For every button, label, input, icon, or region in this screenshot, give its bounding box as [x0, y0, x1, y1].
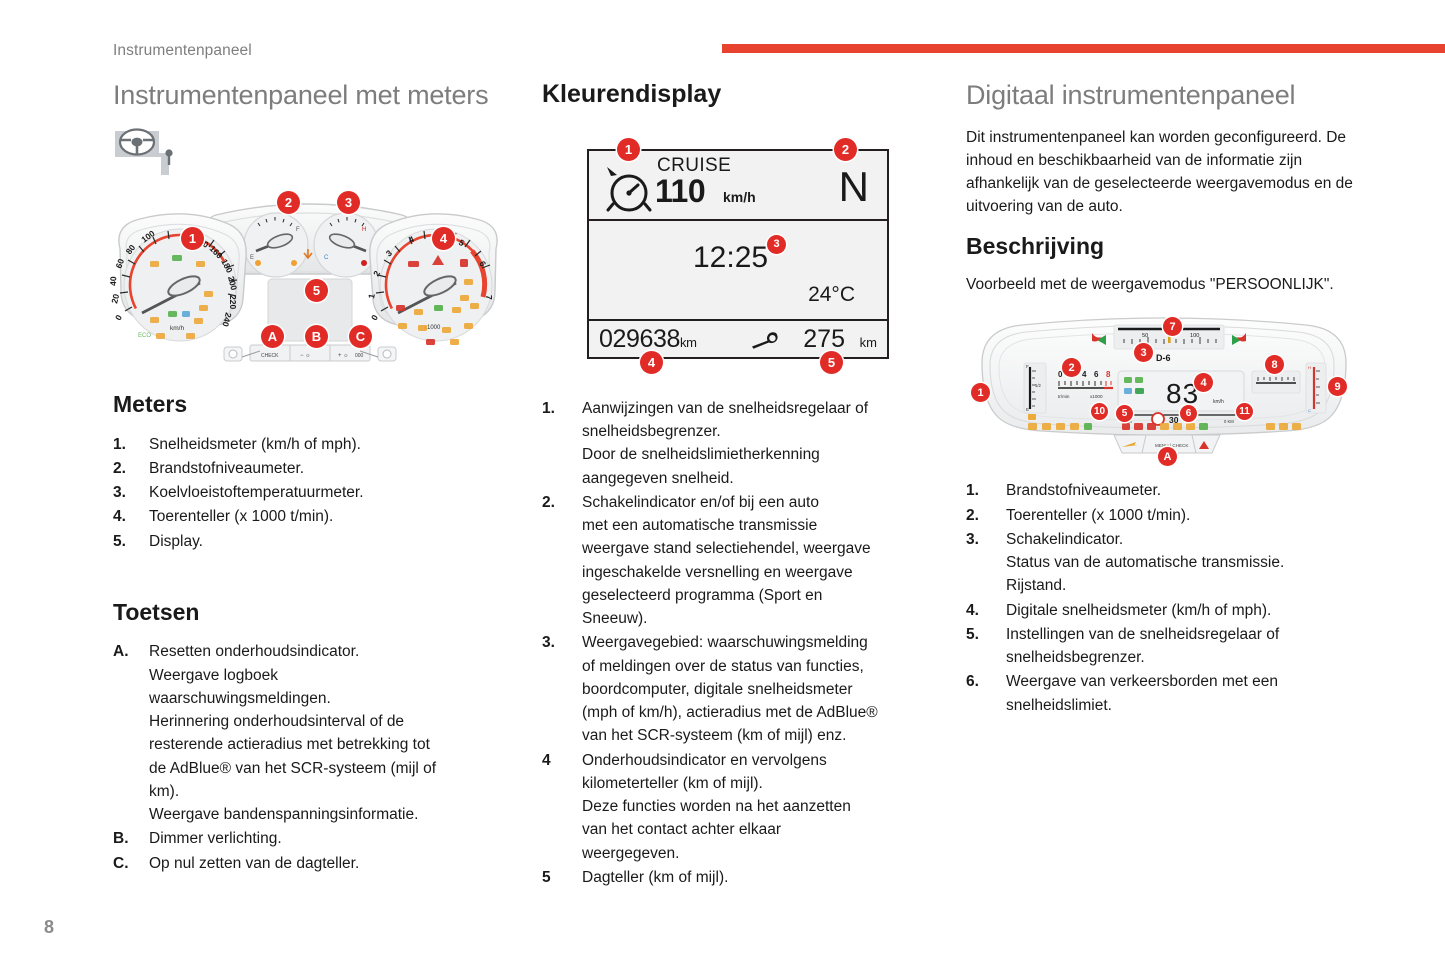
list-line: weergave stand selectiehendel, weergave [582, 537, 871, 560]
list-marker: A. [113, 640, 149, 663]
list-line: Weergave logboek [149, 664, 436, 687]
list-line: Weergavegebied: waarschuwingsmelding [582, 631, 878, 654]
callout-a: A [261, 325, 284, 348]
list-line: Sneeuw). [582, 607, 871, 630]
list-line: waarschuwingsmeldingen. [149, 687, 436, 710]
odometer-value: 029638km [599, 325, 697, 354]
svg-text:km/h: km/h [1213, 399, 1224, 405]
list-line: snelheidslimiet. [1006, 694, 1278, 717]
list-text: Brandstofniveaumeter. [149, 457, 304, 480]
digital-cluster-drawing: 50 100 F 1/2 E 024 [966, 311, 1362, 463]
callout-4: 4 [640, 351, 663, 374]
svg-text:F: F [1026, 364, 1029, 369]
list-text: Display. [149, 530, 203, 553]
list-text: Aanwijzingen van de snelheidsregelaar of… [582, 397, 868, 490]
list-item: 4 Onderhoudsindicator en vervolgens kilo… [542, 749, 932, 865]
list-text: Schakelindicator en/of bij een auto met … [582, 491, 871, 631]
callout-c: C [349, 325, 372, 348]
list-text: Resetten onderhoudsindicator. Weergave l… [149, 640, 436, 826]
digital-instrument-cluster-figure: 50 100 F 1/2 E 024 [966, 311, 1361, 469]
buttons-list: A. Resetten onderhoudsindicator. Weergav… [113, 640, 513, 875]
list-line: kilometerteller (km of mijl). [582, 772, 851, 795]
list-item: 4. Digitale snelheidsmeter (km/h of mph)… [966, 599, 1361, 622]
list-text: Toerenteller (x 1000 t/min). [1006, 504, 1190, 527]
list-marker: 5. [966, 623, 1006, 646]
svg-text:+ ☼: + ☼ [338, 353, 349, 359]
list-line: van het SCR-systeem (km of mijl) enz. [582, 724, 878, 747]
list-line: Door de snelheidslimietherkenning [582, 443, 868, 466]
svg-text:000: 000 [355, 353, 364, 359]
display-bottom-row: 029638km 275 km [589, 321, 887, 357]
svg-text:E: E [250, 255, 254, 261]
list-marker: C. [113, 852, 149, 875]
list-marker: 5 [542, 866, 582, 889]
svg-text:7: 7 [484, 295, 494, 300]
list-text: Weergavegebied: waarschuwingsmelding of … [582, 631, 878, 747]
list-line: resterende actieradius met betrekking to… [149, 733, 436, 756]
steering-wheel-icon [113, 127, 193, 183]
svg-text:E: E [1026, 407, 1029, 412]
list-line: Schakelindicator. [1006, 528, 1284, 551]
left-column: Instrumentenpaneel met meters [113, 80, 513, 876]
running-head: Instrumentenpaneel [113, 42, 252, 60]
svg-text:− ☼: − ☼ [300, 353, 311, 359]
odometer-unit: km [680, 335, 697, 350]
list-text: Koelvloeistoftemperatuurmeter. [149, 481, 364, 504]
list-text: Digitale snelheidsmeter (km/h of mph). [1006, 599, 1271, 622]
callout-3: 3 [767, 235, 786, 254]
callout-1: 1 [617, 138, 640, 161]
list-line: Onderhoudsindicator en vervolgens [582, 749, 851, 772]
clock-value: 12:25 [693, 241, 768, 275]
svg-text:40: 40 [108, 276, 118, 286]
callout-2: 2 [834, 138, 857, 161]
description-paragraph: Voorbeeld met de weergavemodus "PERSOONL… [966, 274, 1361, 297]
list-line: de AdBlue® van het SCR-systeem (mijl of [149, 757, 436, 780]
list-line: boordcomputer, digitale snelheidsmeter [582, 678, 878, 701]
list-item: 2. Schakelindicator en/of bij een auto m… [542, 491, 932, 631]
svg-text:tr/min: tr/min [1058, 394, 1070, 399]
buttons-heading: Toetsen [113, 599, 513, 627]
svg-text:6: 6 [1094, 370, 1099, 379]
list-item: 5. Instellingen van de snelheidsregelaar… [966, 623, 1361, 670]
list-marker: 4. [966, 599, 1006, 622]
list-text: Dimmer verlichting. [149, 827, 282, 850]
list-line: snelheidsbegrenzer. [582, 420, 868, 443]
service-range-unit: km [860, 335, 877, 350]
list-marker: 3. [113, 481, 149, 504]
list-item: 1. Snelheidsmeter (km/h of mph). [113, 433, 513, 456]
callout-1: 1 [181, 227, 204, 250]
display-top-row: CRUISE 110 km/h N [589, 151, 887, 221]
page-title: Instrumentenpaneel met meters [113, 80, 513, 111]
paragraph-line: Dit instrumentenpaneel kan worden [966, 129, 1210, 146]
meters-heading: Meters [113, 391, 513, 419]
list-marker: 6. [966, 670, 1006, 693]
svg-text:D-6: D-6 [1156, 353, 1171, 363]
callout-5: 5 [820, 351, 843, 374]
list-marker: 1. [542, 397, 582, 420]
right-column: Digitaal instrumentenpaneel Dit instrume… [966, 80, 1361, 718]
list-item: 6. Weergave van verkeersborden met een s… [966, 670, 1361, 717]
list-text: Weergave van verkeersborden met een snel… [1006, 670, 1278, 717]
service-range-value: 275 [803, 325, 845, 354]
list-marker: B. [113, 827, 149, 850]
document-page: Instrumentenpaneel Instrumentenpaneel me… [0, 0, 1445, 964]
list-line: Weergave van verkeersborden met een [1006, 670, 1278, 693]
list-item: B. Dimmer verlichting. [113, 827, 513, 850]
svg-text:C: C [324, 255, 329, 261]
list-item: C. Op nul zetten van de dagteller. [113, 852, 513, 875]
list-line: Status van de automatische transmissie. [1006, 551, 1284, 574]
page-number: 8 [44, 917, 54, 938]
section-title-digitaal: Digitaal instrumentenpaneel [966, 80, 1361, 111]
list-text: Onderhoudsindicator en vervolgens kilome… [582, 749, 851, 865]
colour-display-screen: CRUISE 110 km/h N 12:25 24°C 029638km 27… [587, 149, 889, 359]
list-text: Toerenteller (x 1000 t/min). [149, 505, 333, 528]
list-line: Aanwijzingen van de snelheidsregelaar of [582, 397, 868, 420]
list-item: 2. Toerenteller (x 1000 t/min). [966, 504, 1361, 527]
callout-5: 5 [305, 279, 328, 302]
list-line: Herinnering onderhoudsinterval of de [149, 710, 436, 733]
wrench-icon [749, 331, 779, 349]
paragraph-line: geconfigureerd. [1214, 129, 1322, 146]
callout-a: A [1158, 447, 1177, 466]
callout-2: 2 [277, 191, 300, 214]
list-line: Weergave bandenspanningsinformatie. [149, 803, 436, 826]
gear-indicator: N [839, 163, 869, 211]
svg-text:1/2: 1/2 [1035, 383, 1041, 388]
list-text: Instellingen van de snelheidsregelaar of… [1006, 623, 1279, 670]
list-item: 5. Display. [113, 530, 513, 553]
list-line: Deze functies worden na het aanzetten [582, 795, 851, 818]
svg-text:8: 8 [1106, 370, 1111, 379]
list-marker: 1. [966, 479, 1006, 502]
callout-b: B [305, 325, 328, 348]
list-line: met een automatische transmissie [582, 514, 871, 537]
list-line: aangegeven snelheid. [582, 467, 868, 490]
svg-text:ECO: ECO [138, 333, 151, 339]
svg-text:C: C [1308, 408, 1311, 413]
meters-list: 1. Snelheidsmeter (km/h of mph). 2. Bran… [113, 433, 513, 553]
svg-text:H: H [362, 227, 366, 233]
svg-text:CHECK: CHECK [261, 353, 279, 359]
svg-text:4: 4 [1082, 370, 1087, 379]
list-line: km). [149, 780, 436, 803]
analog-instrument-cluster-figure: E F H C [113, 127, 513, 369]
svg-text:0: 0 [113, 313, 124, 322]
svg-text:0 KM: 0 KM [1224, 419, 1234, 424]
svg-text:100: 100 [1190, 333, 1199, 339]
temperature-value: 24°C [808, 283, 855, 307]
list-text: Brandstofniveaumeter. [1006, 479, 1161, 502]
cruise-control-icon [599, 163, 657, 215]
list-text: Schakelindicator. Status van de automati… [1006, 528, 1284, 598]
svg-text:H: H [1308, 365, 1311, 370]
middle-column: Kleurendisplay CRUISE 110 km/h N [542, 80, 932, 890]
callout-3: 3 [337, 191, 360, 214]
list-text: Snelheidsmeter (km/h of mph). [149, 433, 361, 456]
list-marker: 3. [542, 631, 582, 654]
list-text: Dagteller (km of mijl). [582, 866, 728, 889]
header-rule [722, 44, 1445, 53]
list-line: van het contact achter elkaar [582, 818, 851, 841]
display-middle-row: 12:25 24°C [589, 221, 887, 321]
colour-display-list: 1. Aanwijzingen van de snelheidsregelaar… [542, 397, 932, 889]
callout-4: 4 [432, 227, 455, 250]
list-marker: 1. [113, 433, 149, 456]
list-item: 2. Brandstofniveaumeter. [113, 457, 513, 480]
list-line: Resetten onderhoudsindicator. [149, 640, 436, 663]
list-item: 5 Dagteller (km of mijl). [542, 866, 932, 889]
list-marker: 2. [113, 457, 149, 480]
list-marker: 2. [966, 504, 1006, 527]
list-line: Instellingen van de snelheidsregelaar of [1006, 623, 1279, 646]
paragraph-line: "PERSOONLIJK". [1210, 276, 1334, 293]
list-line: snelheidsbegrenzer. [1006, 646, 1279, 669]
list-line: weergegeven. [582, 842, 851, 865]
list-item: 1. Aanwijzingen van de snelheidsregelaar… [542, 397, 932, 490]
cruise-speed-value: 110 [655, 173, 705, 210]
list-line: geselecteerd programma (Sport en [582, 584, 871, 607]
beschrijving-heading: Beschrijving [966, 233, 1361, 261]
list-item: A. Resetten onderhoudsindicator. Weergav… [113, 640, 513, 826]
list-line: ingeschakelde versnelling en weergave [582, 561, 871, 584]
list-line: of meldingen over de status van functies… [582, 655, 878, 678]
intro-paragraph: Dit instrumentenpaneel kan worden geconf… [966, 127, 1361, 219]
list-text: Op nul zetten van de dagteller. [149, 852, 359, 875]
svg-text:20: 20 [109, 293, 121, 305]
list-line: Schakelindicator en/of bij een auto [582, 491, 871, 514]
list-item: 3. Weergavegebied: waarschuwingsmelding … [542, 631, 932, 747]
list-marker: 4 [542, 749, 582, 772]
list-item: 3. Schakelindicator. Status van de autom… [966, 528, 1361, 598]
list-marker: 5. [113, 530, 149, 553]
section-title-kleurendisplay: Kleurendisplay [542, 80, 932, 109]
odometer-number: 029638 [599, 325, 680, 353]
list-line: (mph of km/h), actieradius met de AdBlue… [582, 701, 878, 724]
svg-text:F: F [296, 227, 300, 233]
list-item: 3. Koelvloeistoftemperatuurmeter. [113, 481, 513, 504]
svg-text:50: 50 [1142, 333, 1148, 339]
list-marker: 4. [113, 505, 149, 528]
paragraph-line: Voorbeeld met de weergavemodus [966, 276, 1206, 293]
svg-text:km/h: km/h [170, 325, 184, 332]
list-line: Rijstand. [1006, 574, 1284, 597]
colour-display-figure: CRUISE 110 km/h N 12:25 24°C 029638km 27… [542, 129, 932, 397]
list-item: 4. Toerenteller (x 1000 t/min). [113, 505, 513, 528]
list-item: 1. Brandstofniveaumeter. [966, 479, 1361, 502]
svg-text:220: 220 [228, 295, 238, 309]
digital-cluster-list: 1. Brandstofniveaumeter. 2. Toerenteller… [966, 479, 1361, 717]
cruise-speed-unit: km/h [723, 189, 756, 205]
svg-text:x1000: x1000 [1090, 394, 1103, 399]
list-marker: 2. [542, 491, 582, 514]
list-marker: 3. [966, 528, 1006, 551]
